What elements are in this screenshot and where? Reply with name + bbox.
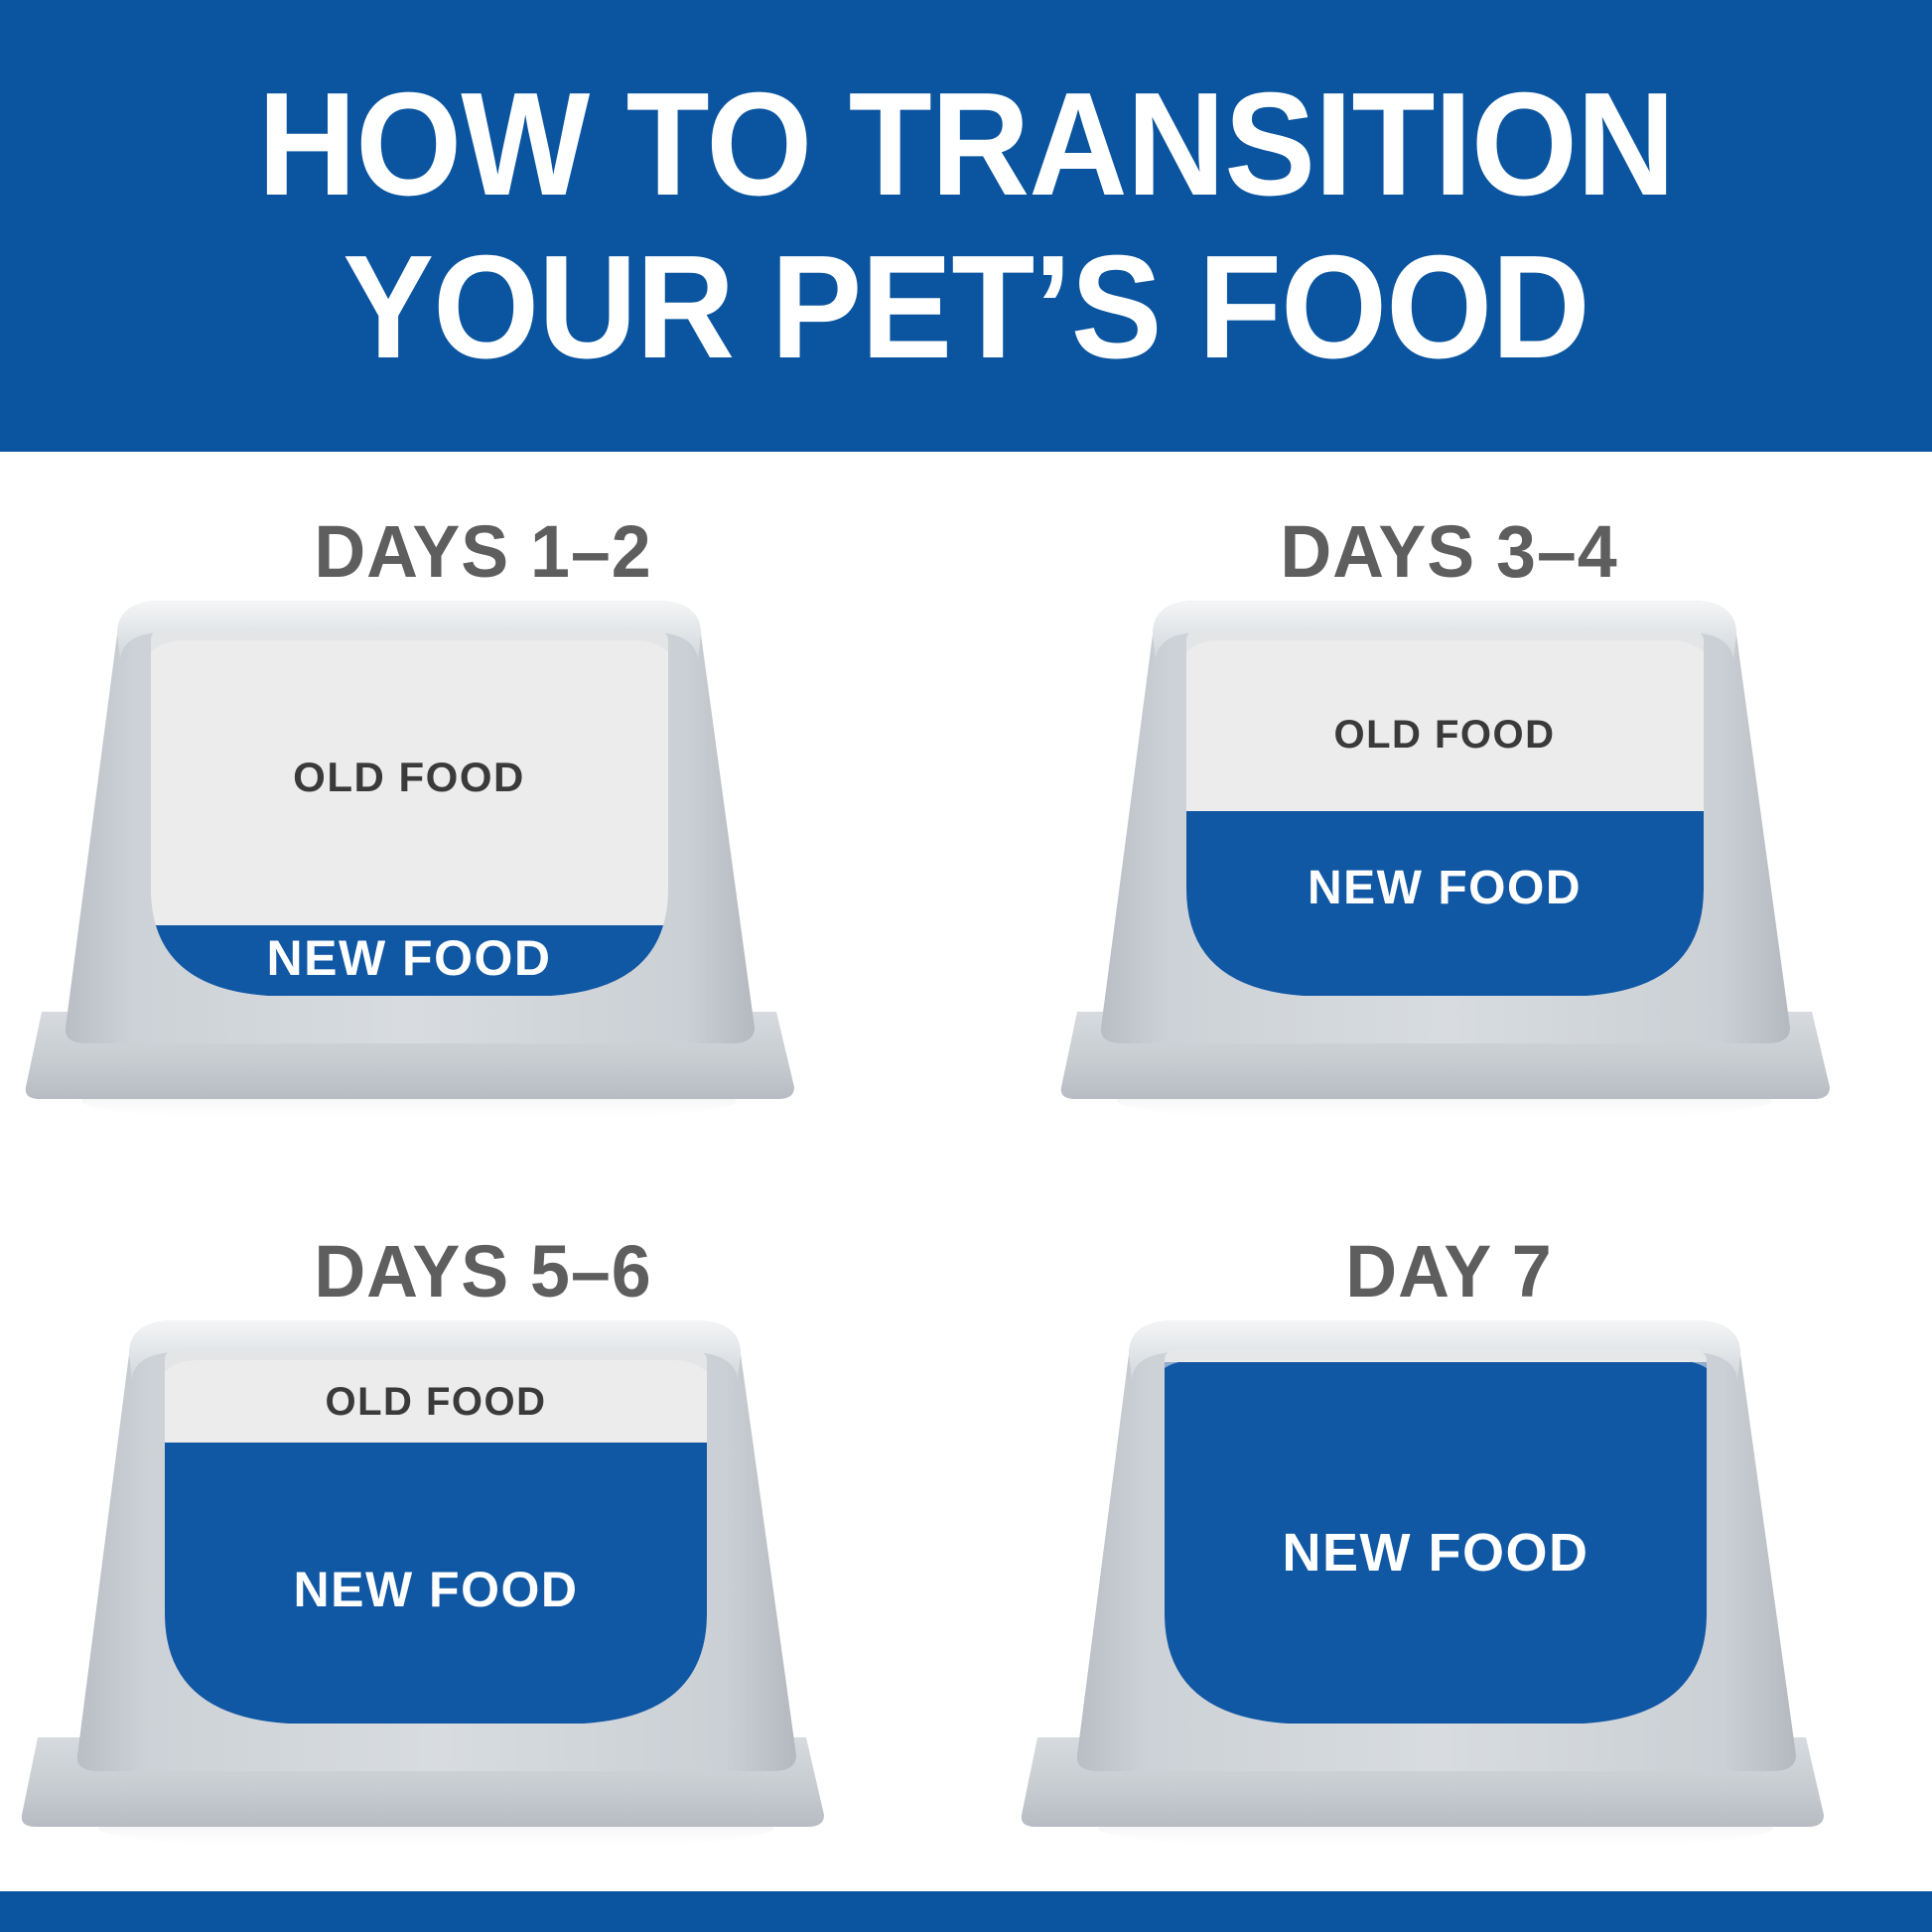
panel-days-5-6: DAYS 5–6 OLD FOOD NEW FOOD [0, 1172, 966, 1891]
bowl-contents [1174, 621, 1721, 1025]
panel-label-days-5-6: DAYS 5–6 [15, 1229, 952, 1313]
panel-label-days-1-2: DAYS 1–2 [15, 509, 952, 594]
bowl-illustration-days-5-6: OLD FOOD NEW FOOD [0, 1311, 966, 1866]
panel-day-7: DAY 7 NEW FOOD [966, 1172, 1932, 1891]
old-food-label: OLD FOOD [1333, 713, 1555, 757]
bowl-days-1-2: OLD FOOD NEW FOOD [0, 591, 966, 1147]
panel-label-day-7: DAY 7 [981, 1229, 1918, 1313]
footer-banner [0, 1891, 1932, 1932]
new-food-label: NEW FOOD [294, 1562, 579, 1617]
new-food-label: NEW FOOD [1308, 862, 1582, 914]
bowl-days-3-4: OLD FOOD NEW FOOD [966, 591, 1932, 1147]
old-food-label: OLD FOOD [325, 1380, 546, 1424]
bowl-illustration-days-1-2: OLD FOOD NEW FOOD [0, 591, 966, 1147]
bowl-panel-grid: DAYS 1–2 [0, 452, 1932, 1891]
panel-label-days-3-4: DAYS 3–4 [981, 509, 1918, 594]
bowl-days-5-6: OLD FOOD NEW FOOD [0, 1311, 966, 1866]
panel-days-1-2: DAYS 1–2 [0, 452, 966, 1172]
bowl-illustration-days-3-4: OLD FOOD NEW FOOD [966, 591, 1932, 1147]
new-food-label: NEW FOOD [1283, 1523, 1589, 1583]
new-food-label: NEW FOOD [267, 930, 552, 986]
panel-days-3-4: DAYS 3–4 OLD FOOD NEW FOOD [966, 452, 1932, 1172]
old-food-label: OLD FOOD [293, 754, 525, 800]
bowl-day-7: NEW FOOD [966, 1311, 1932, 1866]
bowl-illustration-day-7: NEW FOOD [966, 1311, 1932, 1866]
page-title-line-2: YOUR PET’S FOOD [343, 234, 1589, 381]
header-banner: HOW TO TRANSITION YOUR PET’S FOOD [0, 0, 1932, 452]
page-title-line-1: HOW TO TRANSITION [258, 71, 1675, 218]
